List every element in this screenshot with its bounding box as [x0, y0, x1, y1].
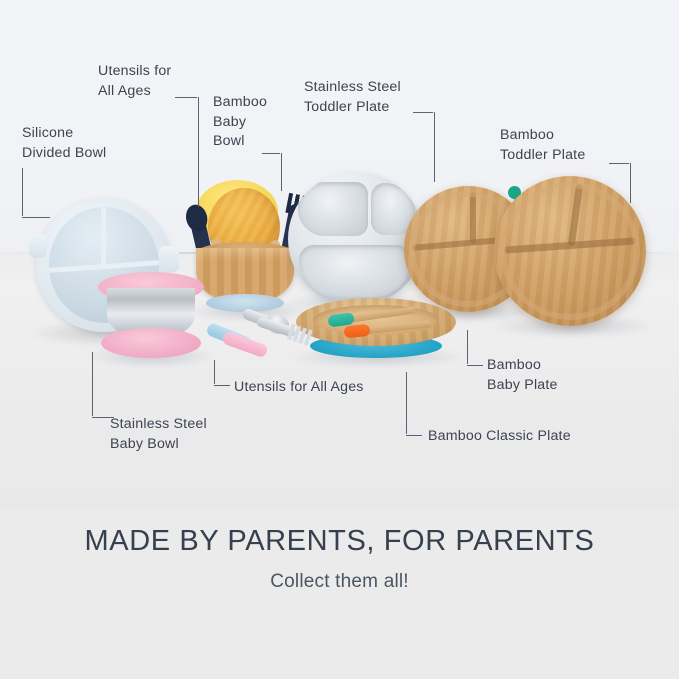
leader-stainless-steel-toddler-plate	[413, 112, 435, 184]
label-stainless-steel-baby-bowl: Stainless Steel Baby Bowl	[110, 415, 207, 454]
label-bamboo-classic-plate: Bamboo Classic Plate	[428, 427, 571, 447]
label-silicone-divided-bowl: Silicone Divided Bowl	[22, 124, 106, 163]
leader-silicone-divided-bowl	[22, 168, 52, 218]
steel-plate-compartment-3	[299, 245, 411, 297]
leader-stainless-steel-baby-bowl	[92, 352, 116, 418]
pink-handle	[221, 331, 269, 359]
steel-plate-body	[288, 172, 424, 306]
silicone-bowl-tab-right	[159, 246, 179, 272]
footer-headline: MADE BY PARENTS, FOR PARENTS	[0, 524, 679, 558]
label-bamboo-baby-bowl: Bamboo Baby Bowl	[213, 93, 267, 152]
label-utensils-all-ages-bottom: Utensils for All Ages	[234, 378, 364, 398]
leader-bamboo-classic-plate	[406, 372, 424, 436]
leader-utensils-all-ages-top	[175, 97, 199, 209]
label-utensils-all-ages-top: Utensils for All Ages	[98, 62, 171, 101]
footer-subline: Collect them all!	[0, 570, 679, 594]
label-bamboo-toddler-plate: Bamboo Toddler Plate	[500, 126, 585, 165]
product-stainless-steel-baby-bowl	[92, 272, 210, 362]
leader-bamboo-toddler-plate	[609, 163, 631, 205]
leader-bamboo-baby-bowl	[262, 153, 282, 193]
leader-bamboo-baby-plate	[467, 330, 485, 366]
steel-baby-bowl-suction-base	[101, 328, 201, 358]
product-stainless-steel-toddler-plate	[288, 172, 424, 306]
product-utensils-pair	[206, 308, 310, 364]
silicone-bowl-tab-left	[29, 234, 47, 258]
silicone-bowl-divider-v	[101, 207, 106, 265]
infographic-canvas: Silicone Divided Bowl Utensils for All A…	[0, 0, 679, 679]
label-bamboo-baby-plate: Bamboo Baby Plate	[487, 356, 558, 395]
leader-utensils-all-ages-bottom	[214, 360, 232, 386]
label-stainless-steel-toddler-plate: Stainless Steel Toddler Plate	[304, 78, 401, 117]
steel-plate-compartment-1	[298, 182, 368, 236]
orange-spoon-tip	[343, 324, 370, 339]
